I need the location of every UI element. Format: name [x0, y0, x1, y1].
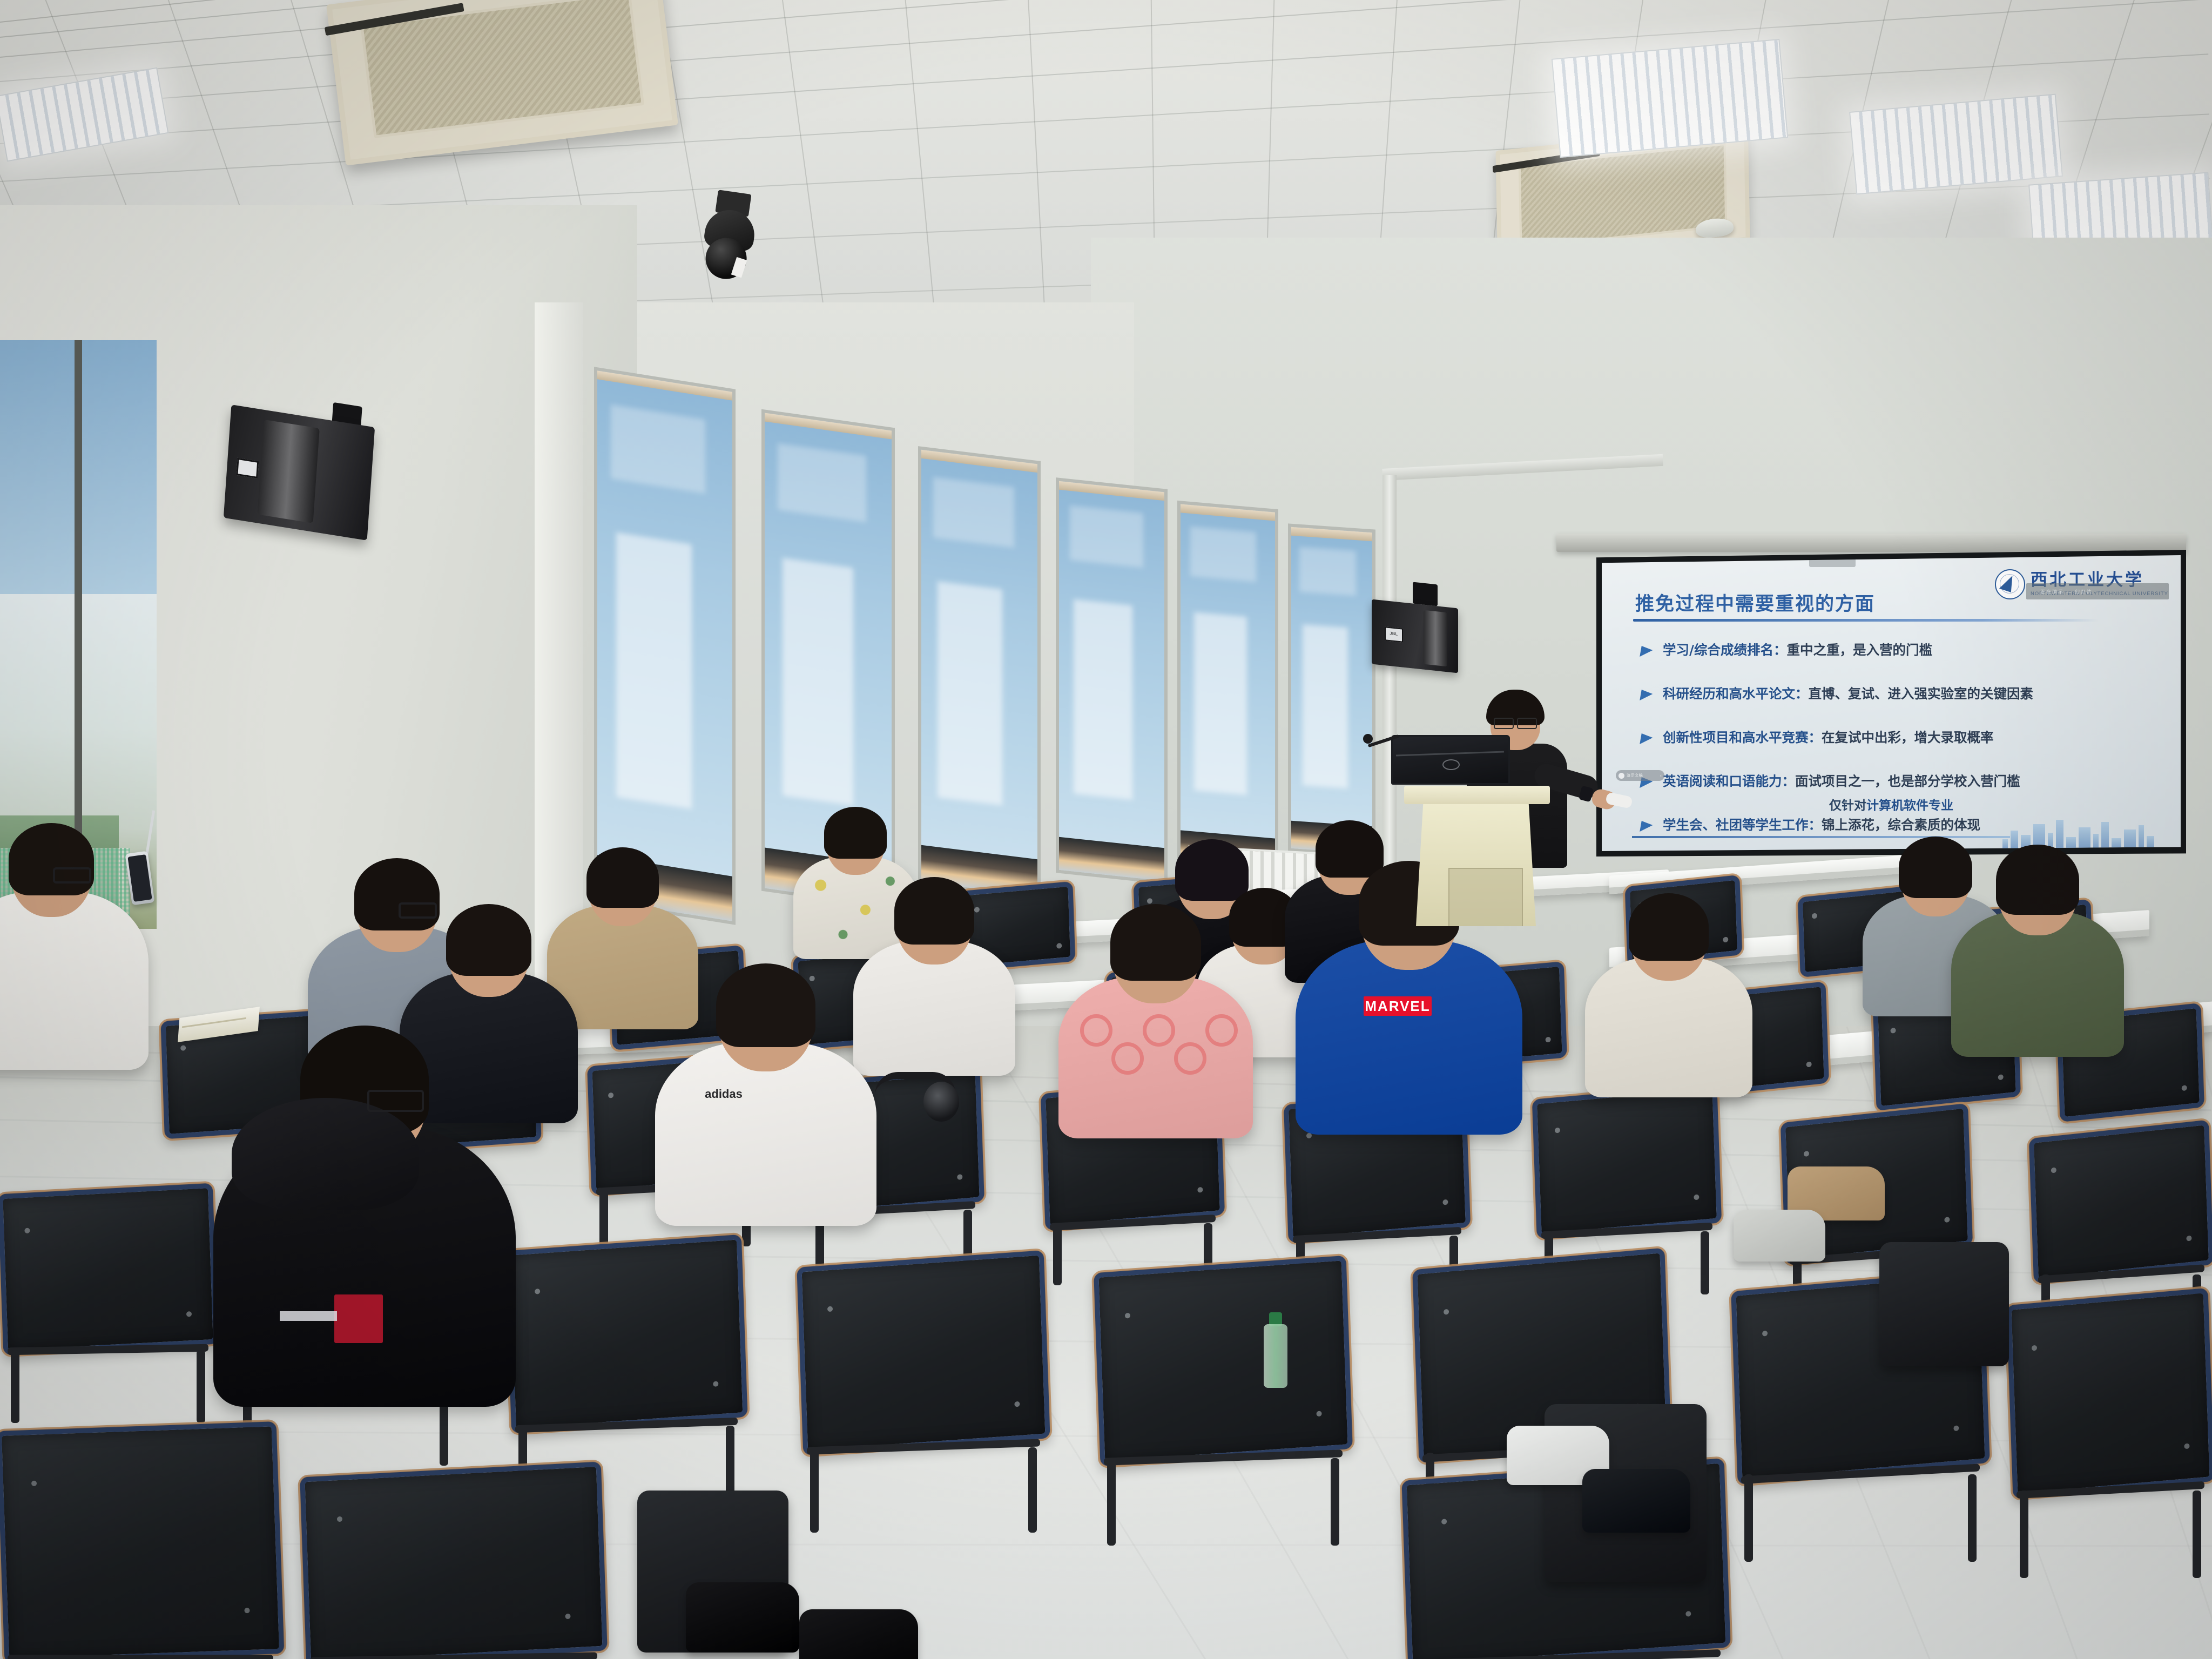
- slide-bottom-rule: [1632, 836, 2010, 838]
- skyline-building: [2002, 839, 2008, 849]
- chair-leg-b-26: [1028, 1447, 1037, 1533]
- slide-bullet-2: 科研经历和高水平论文：直博、复试、进入强实验室的关键因素: [1640, 686, 2159, 703]
- shoe-4: [1734, 1210, 1825, 1262]
- backpack-icon-2: [1879, 1242, 2009, 1366]
- dome-camera-icon: [691, 187, 767, 287]
- hoodie-chest-logo: [334, 1294, 383, 1343]
- chair-leg-b-27: [1331, 1458, 1339, 1546]
- student-photographing-slide-hair: [9, 823, 94, 895]
- arrow-bullet-icon: [1640, 820, 1656, 834]
- bullet-text: 英语阅读和口语能力：面试项目之一，也是部分学校入营门槛: [1663, 774, 2020, 789]
- skyline-building: [2124, 829, 2136, 849]
- chair-leg-b-30: [2193, 1491, 2201, 1578]
- glasses-icon: [53, 867, 91, 884]
- chair-leg-29: [1744, 1474, 1753, 1562]
- hoodie-chest-text: [280, 1311, 337, 1321]
- lecture-chair-20[interactable]: [1532, 1083, 1722, 1239]
- student-floral-blouse-hair: [824, 807, 887, 859]
- student-dark-tee-front-row-hair: [446, 904, 531, 976]
- window-5: [1177, 501, 1278, 872]
- student-black-tee-mid-hair: [1175, 839, 1249, 901]
- speaker-brand-label: JBL: [1385, 626, 1403, 643]
- roller-blind[interactable]: [921, 450, 1037, 896]
- slide-footnote: 仅针对计算机软件专业: [1602, 795, 2181, 813]
- chair-leg-27: [1107, 1458, 1116, 1546]
- arrow-bullet-icon: [1640, 732, 1656, 746]
- chair-leg-16: [599, 1188, 608, 1246]
- skyline-building: [2056, 820, 2063, 849]
- glasses-icon: [1494, 718, 1537, 727]
- tshirt-graphic: [1143, 1014, 1175, 1047]
- ceiling-light-panel-2: [1849, 94, 2063, 195]
- presentation-slide: 西北工业大学 NORTHWESTERN POLYTECHNICAL UNIVER…: [1602, 555, 2181, 851]
- lecture-chair-32[interactable]: [299, 1461, 608, 1659]
- chair-frame-31: [8, 1655, 273, 1659]
- student-cream-tee-right-hair: [1629, 893, 1709, 961]
- tshirt-graphic: [1111, 1042, 1144, 1075]
- glasses-icon: [367, 1090, 424, 1112]
- ceiling-ac-cassette-icon: [326, 0, 678, 166]
- projection-screen: 西北工业大学 NORTHWESTERN POLYTECHNICAL UNIVER…: [1556, 547, 2188, 854]
- laptop-icon[interactable]: [1391, 735, 1507, 789]
- footnote-plain: 仅针对: [1829, 799, 1866, 813]
- slide-toast-overlay[interactable]: 演示文稿 ‹: [1616, 770, 1664, 781]
- shoe-6: [799, 1609, 918, 1659]
- roller-blind[interactable]: [1059, 481, 1164, 881]
- screen-surface: 西北工业大学 NORTHWESTERN POLYTECHNICAL UNIVER…: [1602, 555, 2181, 851]
- chair-leg-30: [2020, 1491, 2028, 1578]
- slide-presenter-badge: 正在演示 — 幻灯片: [2026, 583, 2169, 599]
- lecture-chair-31[interactable]: [0, 1421, 285, 1659]
- chair-leg-18: [1053, 1223, 1062, 1285]
- lecture-chair-26[interactable]: [796, 1250, 1050, 1456]
- skyline-building: [2066, 837, 2076, 849]
- headphones-icon: [875, 1072, 956, 1124]
- student-olive-tee-right-hair: [1996, 845, 2079, 915]
- slide-title: 推免过程中需要重视的方面: [1635, 589, 1875, 616]
- skyline-building: [2147, 836, 2154, 849]
- ceiling-light-panel-9: [0, 68, 168, 162]
- skyline-building: [2079, 827, 2090, 849]
- chevron-left-icon[interactable]: ‹: [1660, 773, 1662, 778]
- skyline-building: [2112, 838, 2121, 849]
- student-adidas-tee-hair: [716, 963, 815, 1047]
- window-3: [918, 446, 1041, 900]
- wall-speaker-icon-right: JBL: [1372, 599, 1458, 673]
- arrow-bullet-icon: [1640, 645, 1656, 659]
- student-black-tee-back-hair: [1316, 820, 1384, 878]
- chair-leg-26: [810, 1447, 819, 1533]
- lecture-chair-25[interactable]: [504, 1234, 748, 1434]
- student-grey-tee-left-hair: [354, 858, 440, 930]
- chair-leg-b-20: [1701, 1231, 1709, 1294]
- window-1: [594, 367, 736, 925]
- ceiling-light-panel-1: [1552, 39, 1788, 158]
- chair-leg-b-29: [1968, 1474, 1977, 1562]
- chair-leg-b-23: [197, 1350, 205, 1423]
- glasses-icon: [399, 902, 437, 919]
- skyline-building: [2011, 831, 2018, 849]
- lecture-chair-30[interactable]: [2006, 1287, 2212, 1500]
- lecture-chair-23[interactable]: [0, 1183, 219, 1356]
- adidas-logo: adidas: [699, 1083, 748, 1105]
- bullet-text: 学习/综合成绩排名：重中之重，是入营的门槛: [1663, 643, 1932, 658]
- podium: [1404, 786, 1550, 926]
- slide-bullet-4: 英语阅读和口语能力：面试项目之一，也是部分学校入营门槛: [1640, 774, 2159, 790]
- arrow-bullet-icon: [1640, 689, 1656, 703]
- bullet-text: 创新性项目和高水平竞赛：在复试中出彩，增大录取概率: [1663, 730, 1994, 745]
- tshirt-graphic: [1080, 1014, 1112, 1047]
- skyline-building: [2101, 822, 2109, 849]
- screen-roller-case: [1556, 534, 2186, 552]
- wall-speaker-icon-left: [224, 404, 375, 541]
- student-photographing-slide-torso: [0, 892, 149, 1070]
- shoe-5: [686, 1582, 799, 1653]
- slide-bullet-3: 创新性项目和高水平竞赛：在复试中出彩，增大录取概率: [1640, 730, 2159, 746]
- hoodie-hood: [232, 1098, 419, 1210]
- window-4: [1056, 477, 1168, 885]
- bullet-text: 科研经历和高水平论文：直博、复试、进入强实验室的关键因素: [1663, 686, 2033, 702]
- student-white-tee-mid-hair: [894, 877, 974, 945]
- chair-leg-23: [11, 1350, 19, 1423]
- toast-dot-icon: [1618, 773, 1624, 779]
- shoe-2: [1582, 1469, 1690, 1533]
- slide-bullet-1: 学习/综合成绩排名：重中之重，是入营的门槛: [1640, 643, 2159, 659]
- roller-blind[interactable]: [1181, 504, 1275, 868]
- slide-title-rule: [1633, 619, 2099, 622]
- window-6: [1288, 523, 1375, 857]
- skyline-building: [2093, 834, 2099, 849]
- bullet-text: 学生会、社团等学生工作：锦上添花，综合素质的体现: [1663, 818, 1980, 833]
- student-grey-tee-far-right-hair: [1899, 837, 1972, 898]
- roller-blind[interactable]: [597, 370, 732, 921]
- roller-blind[interactable]: [1291, 527, 1372, 854]
- footnote-highlight: 计算机软件专业: [1866, 799, 1953, 813]
- student-tan-tee-hair: [586, 847, 659, 908]
- classroom-photo-scene: JBL 西北工业大学 NORTHWESTERN POLYTECHNICAL UN…: [0, 0, 2212, 1659]
- lecture-chair-22[interactable]: [2028, 1119, 2212, 1284]
- lecture-chair-27[interactable]: [1093, 1255, 1353, 1467]
- toast-text: 演示文稿: [1627, 773, 1643, 778]
- conduit-pipe-vertical: [1382, 475, 1397, 886]
- tshirt-graphic: [1174, 1042, 1206, 1075]
- npu-logo-icon: [1995, 569, 2025, 599]
- skyline-graphic: [2002, 817, 2164, 849]
- tshirt-graphic: [1205, 1014, 1238, 1047]
- water-bottle-icon: [1264, 1312, 1287, 1388]
- skyline-building: [2139, 825, 2144, 849]
- marvel-logo: MARVEL: [1364, 996, 1432, 1016]
- student-pink-graphic-tee-hair: [1110, 904, 1201, 981]
